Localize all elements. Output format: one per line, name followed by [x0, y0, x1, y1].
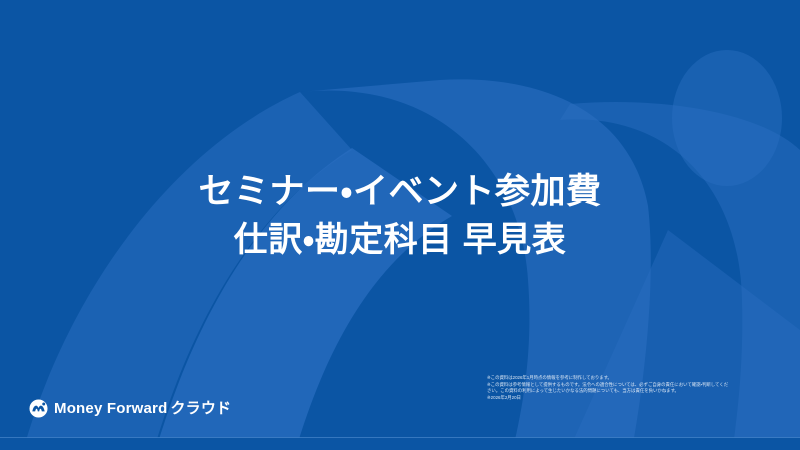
disclaimer-block: ※この資料は2026年1月時点の情報を参考に制作しております。 ※この資料は参考… [487, 375, 731, 401]
watermark-stroke-left [18, 92, 352, 450]
money-forward-logo-mark-icon [29, 399, 48, 418]
watermark-dot-circle [672, 50, 782, 186]
logo-wordmark: Money Forwardクラウド [54, 401, 231, 416]
money-forward-cloud-logo: Money Forwardクラウド [29, 399, 231, 418]
title-line-secondary: 仕訳・勘定科目 早見表 [0, 216, 800, 264]
logo-product-text: クラウド [170, 400, 231, 417]
slide-root: セミナー・イベント参加費 仕訳・勘定科目 早見表 Money Forwardクラ… [0, 0, 800, 450]
disclaimer-line-3: さい。この資料の利用によって生じたいかなる法的問題についても、当方は責任を負いか… [487, 388, 731, 395]
logo-brand-text: Money Forward [54, 400, 167, 417]
page-title: セミナー・イベント参加費 仕訳・勘定科目 早見表 [0, 168, 800, 264]
disclaimer-line-4: ※2026年2月20日 [487, 395, 731, 402]
title-line-primary: セミナー・イベント参加費 [0, 168, 800, 216]
bottom-band [0, 438, 800, 450]
disclaimer-line-1: ※この資料は2026年1月時点の情報を参考に制作しております。 [487, 375, 731, 382]
